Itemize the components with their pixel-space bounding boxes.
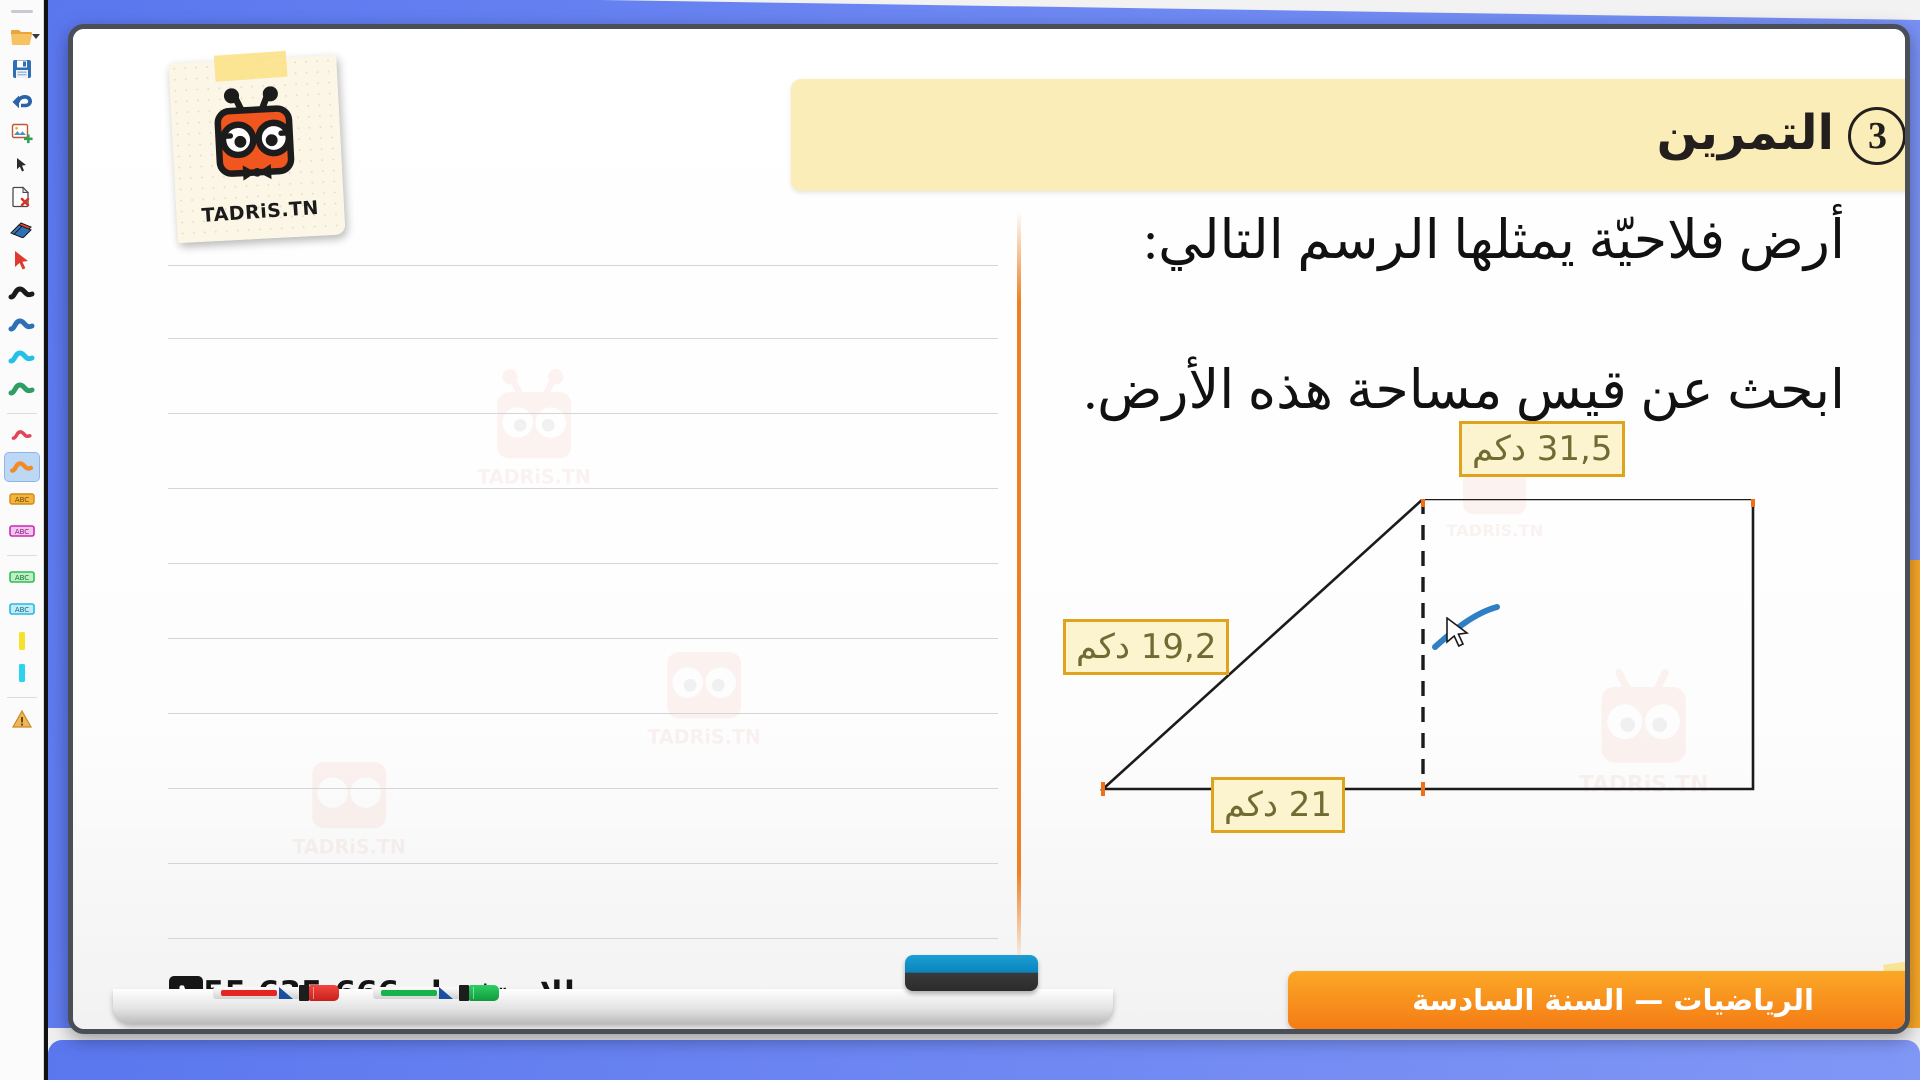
subject-band: الرياضيات — السنة السادسة <box>1288 971 1910 1029</box>
trapezoid-figure: 31,5 دكم 19,2 دكم 21 دكم <box>1093 499 1853 899</box>
tadris-robot-icon <box>198 84 315 198</box>
exercise-title-band: 3التمرين <box>791 79 1910 191</box>
question-line-1: أرض فلاحيّة يمثلها الرسم التالي: <box>675 207 1845 275</box>
label-height[interactable]: 19,2 دكم <box>1063 619 1229 675</box>
question-line-2: ابحث عن قيس مساحة هذه الأرض. <box>675 357 1845 425</box>
open-folder-icon[interactable] <box>5 23 39 51</box>
logo-wordmark: TADRiS.TN <box>176 195 345 229</box>
pen-orange-icon[interactable] <box>5 453 39 481</box>
textbox-cyan-icon[interactable]: ABC <box>5 595 39 623</box>
mouse-cursor-icon <box>1445 617 1473 651</box>
highlighter-yellow-icon[interactable] <box>5 627 39 655</box>
undo-icon[interactable] <box>5 87 39 115</box>
textbox-orange-icon[interactable]: ABC <box>5 485 39 513</box>
subject-label: الرياضيات — السنة السادسة <box>1412 983 1814 1017</box>
pointer-small-icon[interactable] <box>5 151 39 179</box>
save-icon[interactable] <box>5 55 39 83</box>
background-bottom-blue <box>48 1040 1920 1080</box>
marker-tray <box>113 989 1113 1023</box>
whiteboard: TADRiS.TN TADRiS.TN TADRiS.TN TADRiS.TN … <box>68 24 1910 1034</box>
rail-divider-3 <box>7 697 37 698</box>
select-arrow-icon[interactable] <box>5 247 39 275</box>
textbox-magenta-icon[interactable]: ABC <box>5 517 39 545</box>
add-image-icon[interactable] <box>5 119 39 147</box>
highlighter-cyan-icon[interactable] <box>5 659 39 687</box>
pen-cyan-icon[interactable] <box>5 343 39 371</box>
svg-text:ABC: ABC <box>14 606 28 614</box>
pen-blue-icon[interactable] <box>5 311 39 339</box>
pen-red-icon[interactable] <box>5 421 39 449</box>
label-top-base[interactable]: 31,5 دكم <box>1459 421 1625 477</box>
svg-text:ABC: ABC <box>14 528 28 536</box>
exercise-number: 3 <box>1848 107 1906 165</box>
logo-sticky-note: TADRiS.TN <box>168 55 345 244</box>
rail-divider-1 <box>7 413 37 414</box>
eraser-icon[interactable] <box>5 215 39 243</box>
delete-page-icon[interactable] <box>5 183 39 211</box>
pen-black-icon[interactable] <box>5 279 39 307</box>
alert-icon[interactable] <box>5 705 39 733</box>
textbox-green-icon[interactable]: ABC <box>5 563 39 591</box>
rail-grip[interactable] <box>11 10 33 13</box>
exercise-word: التمرين <box>1657 105 1834 161</box>
tool-rail: ABC ABC ABC ABC <box>0 0 44 1080</box>
screen: ABC ABC ABC ABC <box>0 0 1920 1080</box>
svg-text:ABC: ABC <box>14 496 28 504</box>
svg-text:ABC: ABC <box>14 574 28 582</box>
chevron-down-icon[interactable] <box>32 34 40 39</box>
pen-green-icon[interactable] <box>5 375 39 403</box>
trapezoid-drawing <box>1093 499 1853 899</box>
label-bottom-base[interactable]: 21 دكم <box>1211 777 1345 833</box>
tape-strip <box>214 51 288 82</box>
column-divider <box>1017 211 1021 963</box>
page-title: 3التمرين <box>1657 105 1906 165</box>
rail-divider-2 <box>7 555 37 556</box>
